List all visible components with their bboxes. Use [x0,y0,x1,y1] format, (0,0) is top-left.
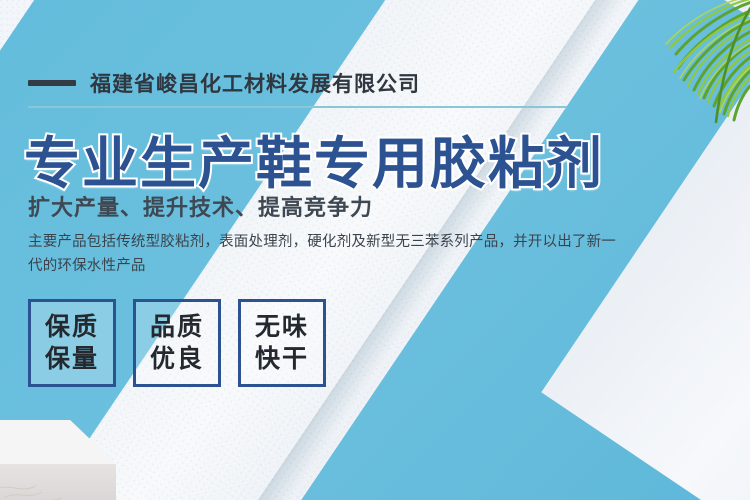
badge-line-1: 品质 [150,311,204,343]
company-name: 福建省峻昌化工材料发展有限公司 [90,68,420,98]
company-row: 福建省峻昌化工材料发展有限公司 [28,68,420,98]
description-text: 主要产品包括传统型胶粘剂，表面处理剂，硬化剂及新型无三苯系列产品，并开以出了新一… [28,230,628,278]
badge-line-2: 快干 [255,343,309,375]
headline: 专业生产鞋专用胶粘剂 [24,119,604,200]
badge-line-1: 保质 [45,311,99,343]
feature-badges: 保质 保量 品质 优良 无味 快干 [28,299,326,387]
dash-mark [28,80,76,86]
teal-divider [28,106,567,108]
feature-badge: 保质 保量 [28,299,116,387]
feature-badge: 无味 快干 [238,299,326,387]
subheadline: 扩大产量、提升技术、提高竞争力 [28,190,373,222]
promo-banner: 福建省峻昌化工材料发展有限公司 专业生产鞋专用胶粘剂 扩大产量、提升技术、提高竞… [0,0,750,500]
feature-badge: 品质 优良 [133,299,221,387]
badge-line-2: 优良 [150,343,204,375]
badge-line-2: 保量 [45,343,99,375]
banner-content: 福建省峻昌化工材料发展有限公司 专业生产鞋专用胶粘剂 扩大产量、提升技术、提高竞… [0,0,750,500]
badge-line-1: 无味 [255,311,309,343]
